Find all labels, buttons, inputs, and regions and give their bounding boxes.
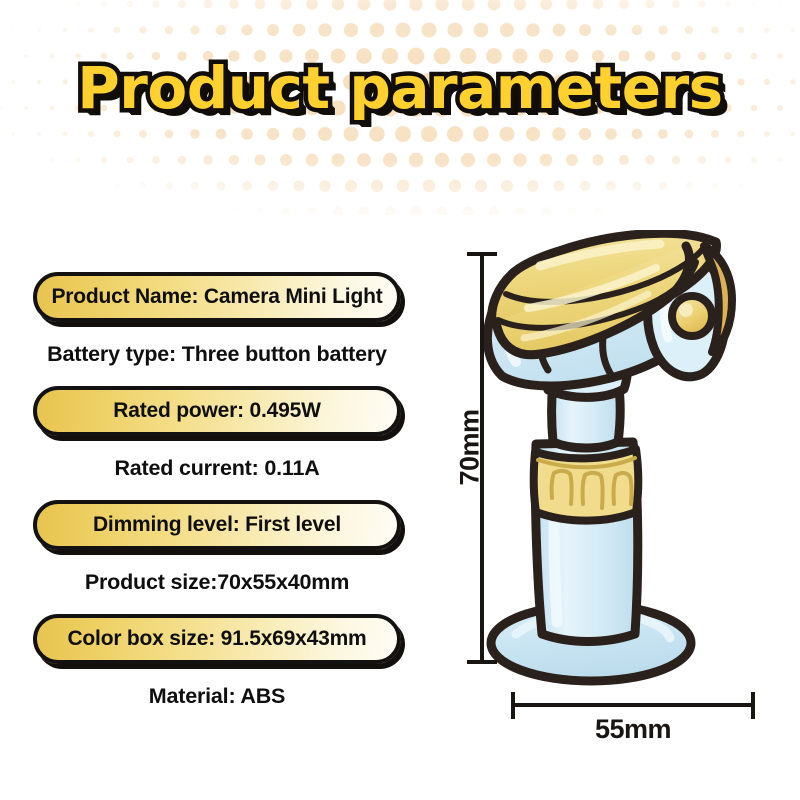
infographic-canvas: Product parameters Product Name: Camera … bbox=[0, 0, 800, 800]
parameter-text-row: Material: ABS bbox=[33, 676, 401, 716]
parameter-label: Dimming level: First level bbox=[93, 513, 341, 537]
height-dimension-label: 70mm bbox=[455, 403, 486, 493]
camera-lens-icon bbox=[672, 296, 712, 336]
parameter-label: Color box size: 91.5x69x43mm bbox=[67, 627, 366, 651]
parameter-label: Product Name: Camera Mini Light bbox=[51, 285, 382, 309]
page-title: Product parameters bbox=[77, 52, 722, 124]
parameter-label: Rated power: 0.495W bbox=[113, 399, 320, 423]
parameter-label: Rated current: 0.11A bbox=[114, 456, 319, 481]
parameter-label: Battery type: Three button battery bbox=[47, 342, 387, 367]
parameter-pill: Dimming level: First level bbox=[33, 500, 401, 550]
parameter-text-row: Product size:70x55x40mm bbox=[33, 562, 401, 602]
width-dimension-label: 55mm bbox=[510, 714, 756, 745]
parameter-text-row: Battery type: Three button battery bbox=[33, 334, 401, 374]
parameter-list: Product Name: Camera Mini LightBattery t… bbox=[33, 272, 401, 728]
title-block: Product parameters bbox=[0, 52, 800, 132]
parameter-text-row: Rated current: 0.11A bbox=[33, 448, 401, 488]
parameter-label: Product size:70x55x40mm bbox=[85, 570, 349, 595]
parameter-pill: Product Name: Camera Mini Light bbox=[33, 272, 401, 322]
camera-collar-ring bbox=[534, 449, 639, 521]
parameter-label: Material: ABS bbox=[149, 684, 285, 709]
parameter-pill: Color box size: 91.5x69x43mm bbox=[33, 614, 401, 664]
product-illustration bbox=[420, 230, 790, 760]
parameter-pill: Rated power: 0.495W bbox=[33, 386, 401, 436]
